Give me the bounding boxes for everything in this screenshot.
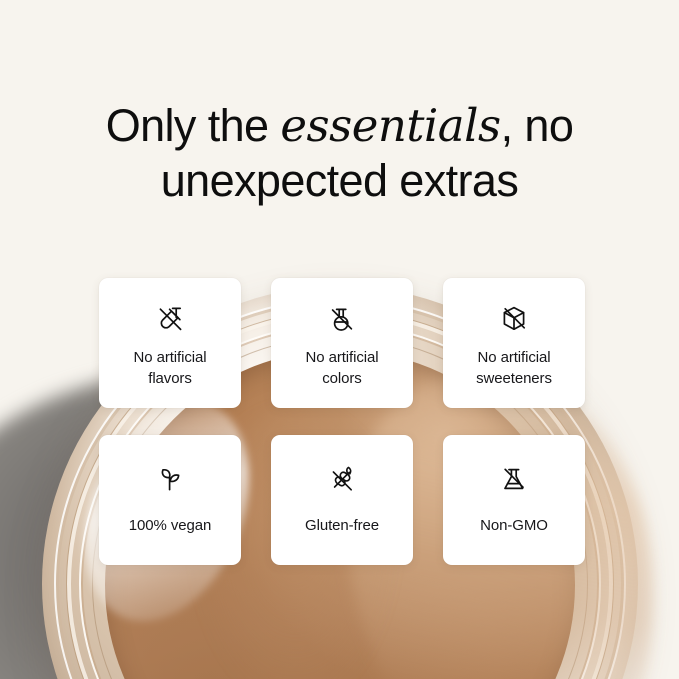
non-gmo-flask-icon <box>492 457 536 501</box>
headline-part-1: Only the <box>106 100 281 151</box>
hero-content: Only the essentials, no unexpected extra… <box>0 0 679 679</box>
page-title: Only the essentials, no unexpected extra… <box>0 98 679 209</box>
no-artificial-sweeteners-icon <box>492 297 536 341</box>
badge-label: Non-GMO <box>474 515 554 536</box>
no-artificial-colors-icon <box>320 297 364 341</box>
gluten-free-wheat-icon <box>320 457 364 501</box>
badge-card-no-artificial-colors[interactable]: No artificialcolors <box>271 278 413 408</box>
badge-card-gluten-free[interactable]: Gluten-free <box>271 435 413 565</box>
badge-label: No artificialcolors <box>300 347 385 390</box>
badge-label: Gluten-free <box>299 515 385 536</box>
badge-card-non-gmo[interactable]: Non-GMO <box>443 435 585 565</box>
marketing-hero-panel: Only the essentials, no unexpected extra… <box>0 0 679 679</box>
headline-emphasis: essentials <box>280 99 500 152</box>
badge-label: 100% vegan <box>123 515 217 536</box>
no-artificial-flavors-icon <box>148 297 192 341</box>
benefit-badge-grid: No artificialflavors <box>99 278 585 565</box>
vegan-sprout-icon <box>148 457 192 501</box>
badge-label: No artificialflavors <box>128 347 213 390</box>
badge-label: No artificialsweeteners <box>470 347 558 390</box>
badge-card-no-artificial-sweeteners[interactable]: No artificialsweeteners <box>443 278 585 408</box>
badge-card-no-artificial-flavors[interactable]: No artificialflavors <box>99 278 241 408</box>
badge-card-vegan[interactable]: 100% vegan <box>99 435 241 565</box>
